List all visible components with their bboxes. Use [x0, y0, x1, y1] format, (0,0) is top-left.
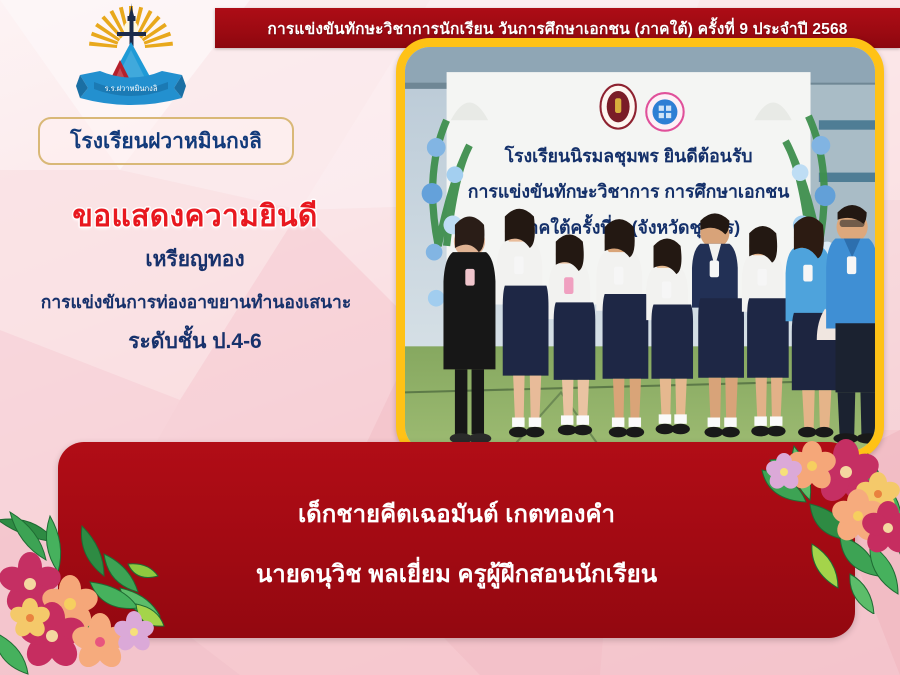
backdrop-line-1: โรงเรียนนิรมลชุมพร ยินดีต้อนรับ	[504, 145, 753, 167]
school-name-badge: โรงเรียนฝวาหมินกงลิ	[38, 117, 294, 165]
hibiscus-flowers-icon-right	[750, 424, 900, 614]
medal-label: เหรียญทอง	[0, 243, 390, 276]
group-photo: โรงเรียนนิรมลชุมพร ยินดีต้อนรับ การแข่งข…	[405, 47, 875, 451]
congratulations-heading: ขอแสดงความยินดี	[0, 193, 390, 240]
grade-level-label: ระดับชั้น ป.4-6	[0, 325, 390, 358]
school-emblem-icon: ร.ร.ฝวาหมินกงลิ	[70, 2, 192, 110]
school-name-text: โรงเรียนฝวาหมินกงลิ	[70, 125, 262, 158]
crest-ribbon-text: ร.ร.ฝวาหมินกงลิ	[105, 84, 158, 93]
group-photo-frame: โรงเรียนนิรมลชุมพร ยินดีต้อนรับ การแข่งข…	[396, 38, 884, 460]
competition-name: การแข่งขันการท่องอาขยานทำนองเสนาะ	[0, 288, 392, 316]
hibiscus-flowers-icon	[0, 508, 190, 675]
backdrop-line-2: การแข่งขันทักษะวิชาการ การศึกษาเอกชน	[468, 182, 790, 202]
event-title-text: การแข่งขันทักษะวิชาการนักเรียน วันการศึก…	[267, 16, 847, 41]
certificate-canvas: การแข่งขันทักษะวิชาการนักเรียน วันการศึก…	[0, 0, 900, 675]
